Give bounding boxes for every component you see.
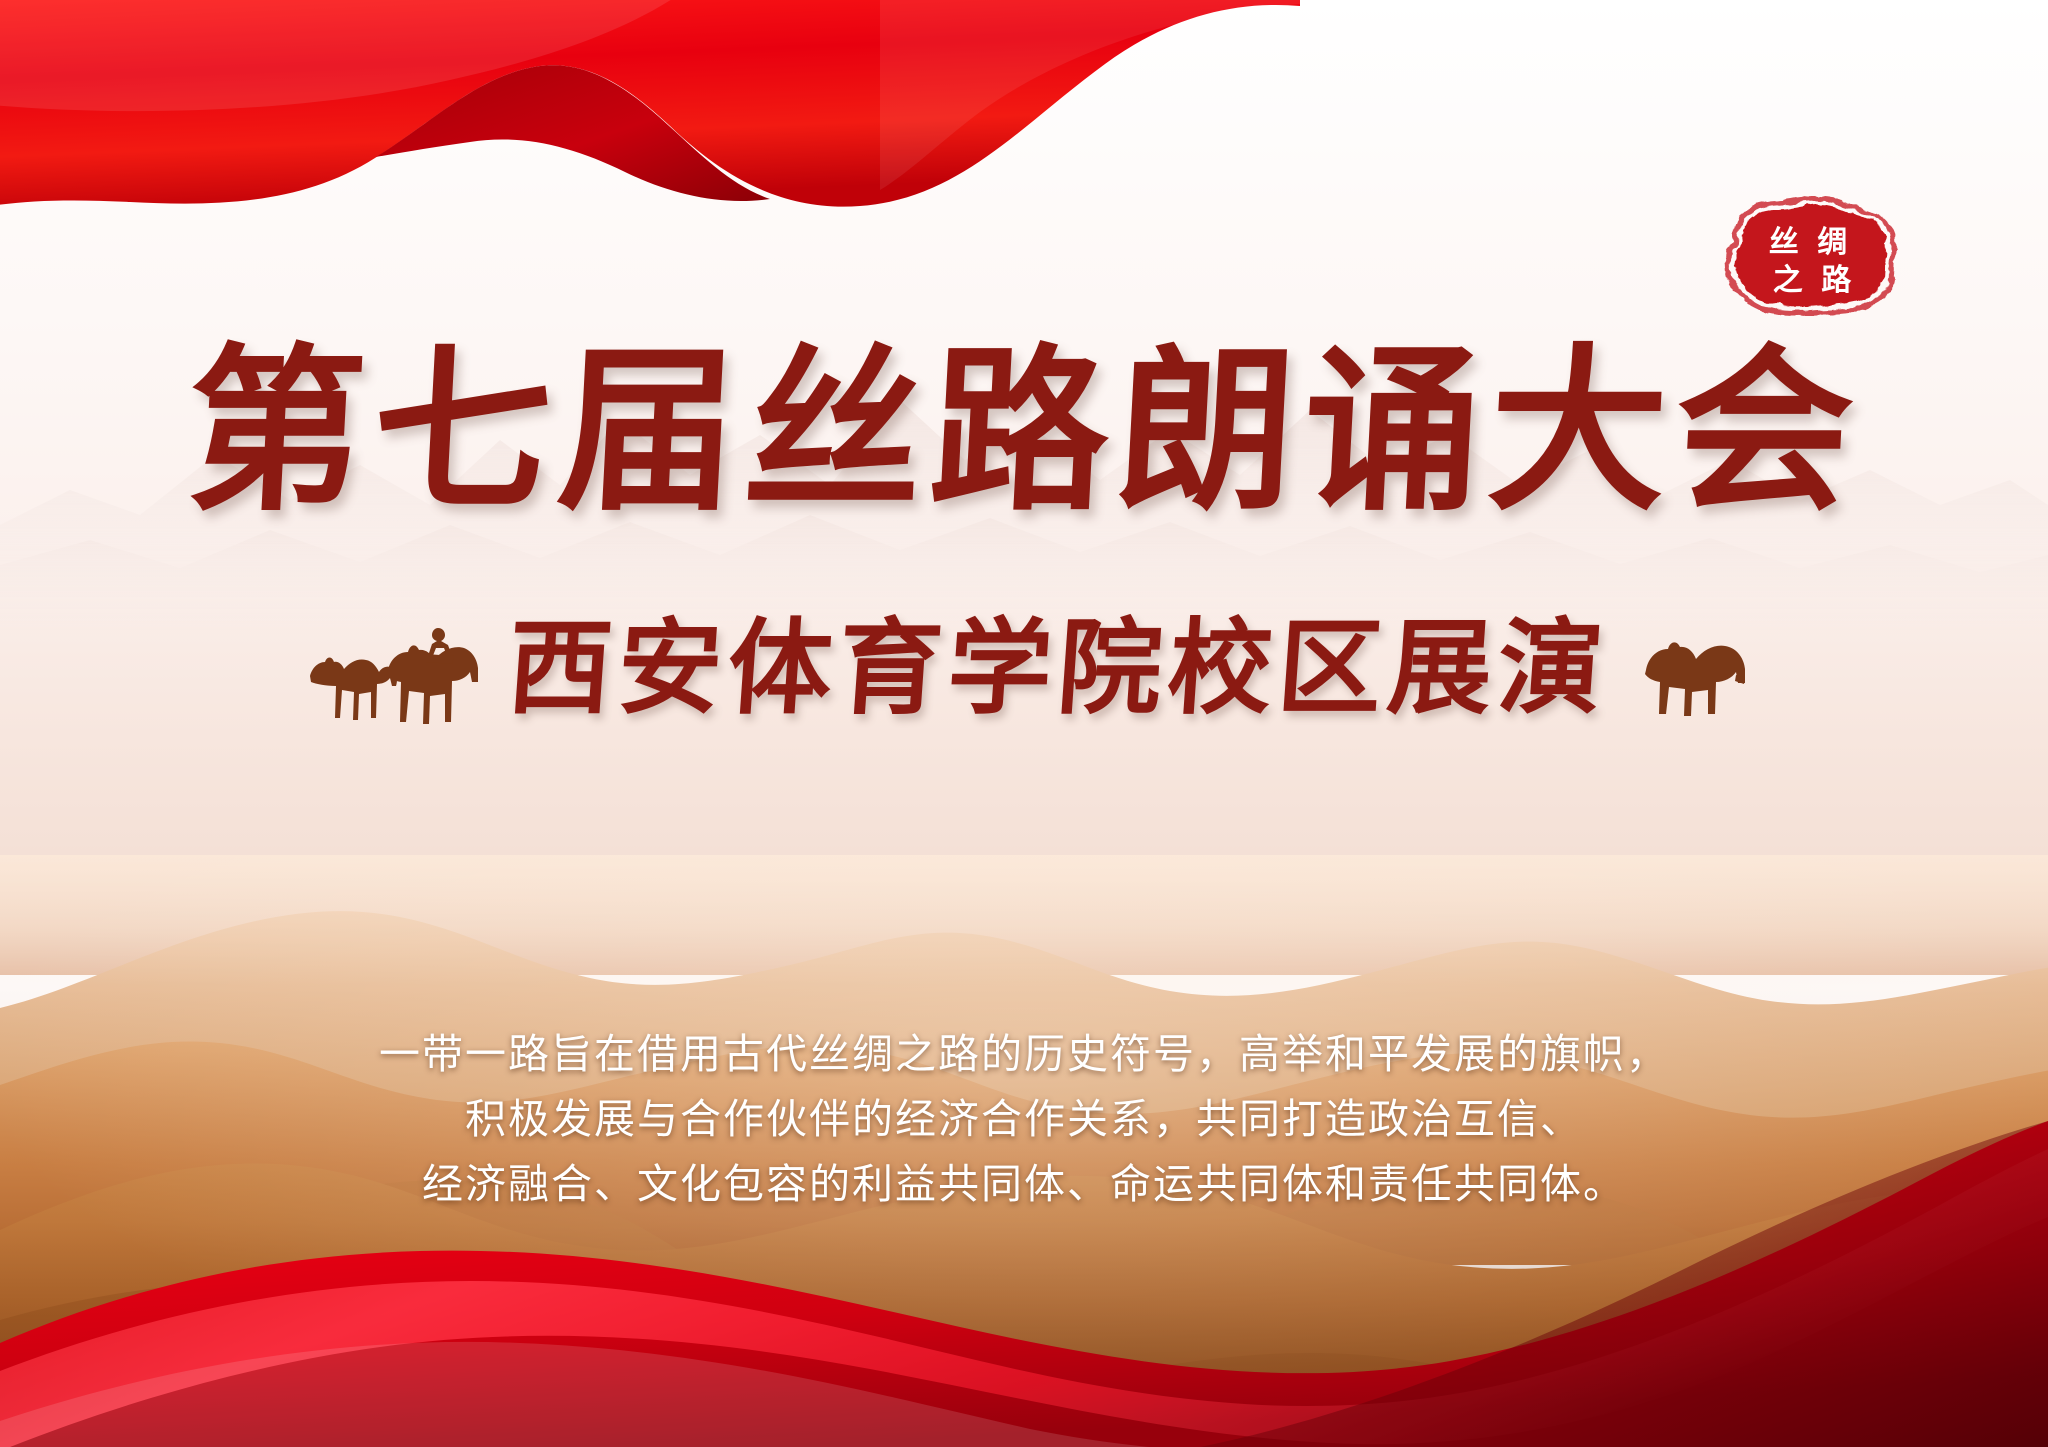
- seal-line-1: 丝 绸: [1769, 225, 1851, 260]
- seal-line-2: 之 路: [1773, 263, 1855, 298]
- poster-canvas: 丝 绸 之 路 第七届丝路朗诵大会 西安: [0, 0, 2048, 1447]
- silk-road-seal-stamp: 丝 绸 之 路: [1718, 196, 1898, 316]
- body-line-2: 积极发展与合作伙伴的经济合作关系，共同打造政治互信、: [0, 1087, 2048, 1152]
- page-title: 第七届丝路朗诵大会: [182, 338, 1866, 525]
- subtitle-block: 西安体育学院校区展演: [0, 612, 2048, 724]
- page-subtitle: 西安体育学院校区展演: [504, 613, 1612, 722]
- red-silk-ribbon-top: [0, 0, 1300, 294]
- title-block: 第七届丝路朗诵大会: [0, 338, 2048, 525]
- body-line-1: 一带一路旨在借用古代丝绸之路的历史符号，高举和平发展的旗帜，: [0, 1022, 2048, 1087]
- body-paragraph: 一带一路旨在借用古代丝绸之路的历史符号，高举和平发展的旗帜， 积极发展与合作伙伴…: [0, 1022, 2048, 1216]
- body-line-3: 经济融合、文化包容的利益共同体、命运共同体和责任共同体。: [0, 1152, 2048, 1217]
- camel-pair-icon: [302, 612, 478, 724]
- camel-single-icon: [1638, 620, 1746, 716]
